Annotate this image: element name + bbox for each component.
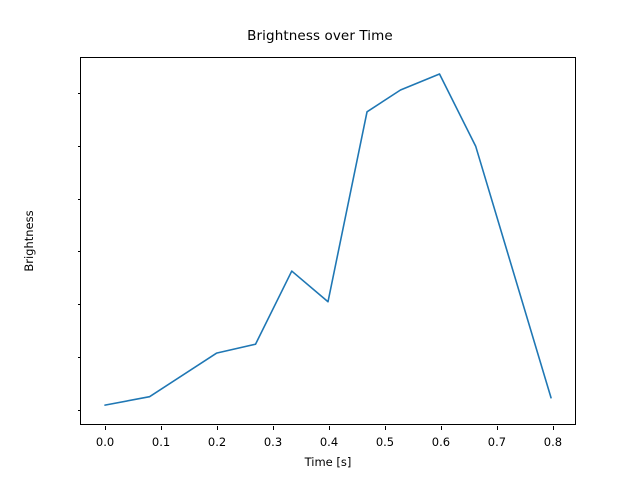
- x-tick-label: 0.3: [264, 435, 282, 449]
- x-tick-mark: [161, 426, 162, 430]
- y-tick-mark: [78, 199, 82, 200]
- y-tick-mark: [78, 410, 82, 411]
- y-tick-mark: [78, 251, 82, 252]
- y-tick-mark: [78, 146, 82, 147]
- x-tick-mark: [105, 426, 106, 430]
- y-axis-label: Brightness: [22, 57, 38, 425]
- x-tick-label: 0.0: [96, 435, 114, 449]
- y-tick-mark: [78, 357, 82, 358]
- x-tick-label: 0.6: [432, 435, 450, 449]
- x-tick-mark: [385, 426, 386, 430]
- line-plot-svg: [81, 58, 575, 424]
- plot-axes: 0200400600800100012000.00.10.20.30.40.50…: [80, 57, 576, 425]
- x-tick-mark: [441, 426, 442, 430]
- x-tick-label: 0.2: [208, 435, 226, 449]
- x-tick-mark: [497, 426, 498, 430]
- chart-figure: Brightness over Time 0200400600800100012…: [0, 0, 640, 480]
- x-tick-label: 0.4: [320, 435, 338, 449]
- x-tick-label: 0.5: [376, 435, 394, 449]
- x-tick-label: 0.1: [152, 435, 170, 449]
- y-tick-mark: [78, 304, 82, 305]
- x-tick-label: 0.8: [544, 435, 562, 449]
- x-tick-label: 0.7: [488, 435, 506, 449]
- y-tick-mark: [78, 93, 82, 94]
- x-tick-mark: [553, 426, 554, 430]
- x-axis-label: Time [s]: [80, 455, 576, 469]
- x-tick-mark: [217, 426, 218, 430]
- chart-title: Brightness over Time: [0, 28, 640, 44]
- x-tick-mark: [329, 426, 330, 430]
- x-tick-mark: [273, 426, 274, 430]
- brightness-line-series: [105, 74, 551, 405]
